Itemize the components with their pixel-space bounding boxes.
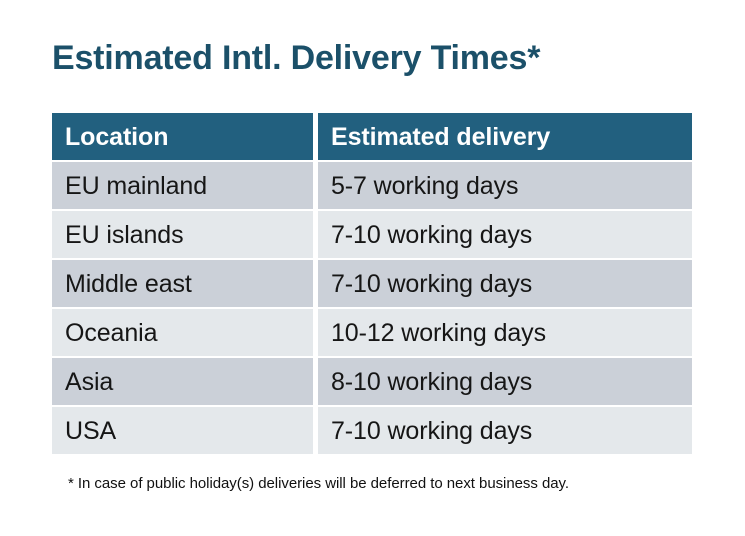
cell-location: Oceania <box>52 309 313 356</box>
column-header-estimated-delivery: Estimated delivery <box>318 113 692 160</box>
table-row: Middle east 7-10 working days <box>52 260 692 307</box>
cell-location: USA <box>52 407 313 454</box>
table-row: USA 7-10 working days <box>52 407 692 454</box>
cell-estimated-delivery: 10-12 working days <box>318 309 692 356</box>
cell-estimated-delivery: 7-10 working days <box>318 260 692 307</box>
cell-estimated-delivery: 7-10 working days <box>318 211 692 258</box>
cell-location: Asia <box>52 358 313 405</box>
cell-location: Middle east <box>52 260 313 307</box>
delivery-times-table: Location Estimated delivery EU mainland … <box>52 113 692 454</box>
column-header-location: Location <box>52 113 313 160</box>
table-row: Oceania 10-12 working days <box>52 309 692 356</box>
table-row: Asia 8-10 working days <box>52 358 692 405</box>
table-row: EU mainland 5-7 working days <box>52 162 692 209</box>
cell-estimated-delivery: 8-10 working days <box>318 358 692 405</box>
page-title: Estimated Intl. Delivery Times* <box>52 36 712 80</box>
cell-location: EU mainland <box>52 162 313 209</box>
delivery-times-page: Estimated Intl. Delivery Times* Location… <box>0 0 745 536</box>
cell-location: EU islands <box>52 211 313 258</box>
table-row: EU islands 7-10 working days <box>52 211 692 258</box>
footnote: * In case of public holiday(s) deliverie… <box>68 474 728 494</box>
cell-estimated-delivery: 7-10 working days <box>318 407 692 454</box>
table-header-row: Location Estimated delivery <box>52 113 692 160</box>
cell-estimated-delivery: 5-7 working days <box>318 162 692 209</box>
